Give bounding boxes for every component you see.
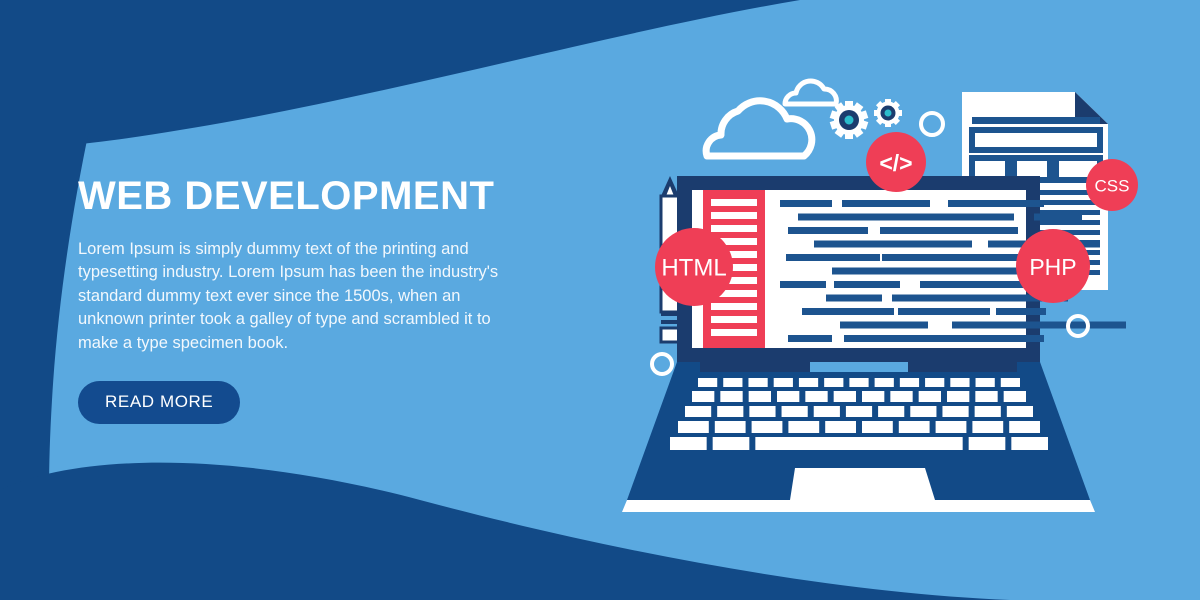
- code-line-segment: [910, 241, 972, 248]
- code-line-segment: [1020, 322, 1126, 329]
- keyboard-key[interactable]: [846, 406, 872, 417]
- keyboard-key[interactable]: [975, 406, 1001, 417]
- keyboard-key[interactable]: [678, 421, 709, 433]
- trackpad[interactable]: [790, 468, 935, 500]
- keyboard-key[interactable]: [899, 421, 930, 433]
- keyboard-key[interactable]: [969, 437, 1006, 450]
- keyboard-key[interactable]: [950, 378, 969, 387]
- badge-html[interactable]: HTML: [655, 228, 733, 306]
- laptop-illustration: CSS </> PHP HTML: [0, 0, 1200, 600]
- circle-top-icon: [921, 113, 943, 135]
- keyboard-key[interactable]: [782, 406, 808, 417]
- code-line-segment: [898, 308, 990, 315]
- keyboard-key[interactable]: [972, 421, 1003, 433]
- badge-code-label: </>: [879, 150, 912, 176]
- code-line-segment: [996, 308, 1046, 315]
- keyboard-key[interactable]: [910, 406, 936, 417]
- keyboard-key[interactable]: [825, 421, 856, 433]
- code-line-segment: [936, 214, 1014, 221]
- keyboard-key[interactable]: [976, 378, 995, 387]
- keyboard-key[interactable]: [1009, 421, 1040, 433]
- keyboard-key[interactable]: [875, 378, 894, 387]
- base-front-edge: [622, 500, 1095, 512]
- code-line-segment: [826, 295, 882, 302]
- keyboard-key[interactable]: [715, 421, 746, 433]
- keyboard-key[interactable]: [947, 391, 969, 402]
- keyboard-key[interactable]: [749, 391, 771, 402]
- keyboard-key[interactable]: [878, 406, 904, 417]
- keyboard-key[interactable]: [975, 391, 997, 402]
- keyboard-key[interactable]: [925, 378, 944, 387]
- badge-code[interactable]: </>: [866, 132, 926, 192]
- code-line-segment: [842, 200, 930, 207]
- keyboard-key[interactable]: [862, 421, 893, 433]
- cloud-small-icon: [785, 81, 836, 104]
- keyboard-key[interactable]: [774, 378, 793, 387]
- gear-large-icon: [830, 101, 869, 139]
- badge-css[interactable]: CSS: [1086, 159, 1138, 211]
- keyboard-key[interactable]: [862, 391, 884, 402]
- code-line-segment: [786, 254, 880, 261]
- keyboard-key[interactable]: [788, 421, 819, 433]
- badge-php[interactable]: PHP: [1016, 229, 1090, 303]
- keyboard-key[interactable]: [1001, 378, 1020, 387]
- keyboard-key[interactable]: [942, 406, 968, 417]
- keyboard-key[interactable]: [685, 406, 711, 417]
- code-line-segment: [952, 322, 1024, 329]
- code-line-segment: [780, 200, 832, 207]
- code-line-segment: [834, 281, 900, 288]
- keyboard-key[interactable]: [692, 391, 714, 402]
- keyboard-key[interactable]: [805, 391, 827, 402]
- keyboard-key[interactable]: [834, 391, 856, 402]
- hinge-notch: [810, 362, 908, 372]
- keyboard-key[interactable]: [698, 378, 717, 387]
- keyboard-key[interactable]: [723, 378, 742, 387]
- keyboard-key[interactable]: [824, 378, 843, 387]
- cloud-large-icon: [706, 101, 812, 156]
- keyboard-key[interactable]: [814, 406, 840, 417]
- keyboard-key[interactable]: [749, 406, 775, 417]
- code-line-segment: [950, 335, 1044, 342]
- keyboard-key[interactable]: [890, 391, 912, 402]
- code-line-segment: [892, 295, 986, 302]
- code-line-segment: [802, 308, 894, 315]
- code-line-segment: [844, 335, 956, 342]
- keyboard-key[interactable]: [799, 378, 818, 387]
- code-line-segment: [780, 281, 826, 288]
- code-line-segment: [788, 335, 832, 342]
- keyboard-key[interactable]: [720, 391, 742, 402]
- code-line-segment: [1034, 214, 1082, 221]
- badge-php-label: PHP: [1029, 254, 1076, 280]
- keyboard-key[interactable]: [777, 391, 799, 402]
- code-line-segment: [948, 200, 1044, 207]
- keyboard-key[interactable]: [900, 378, 919, 387]
- keyboard-key[interactable]: [849, 378, 868, 387]
- circle-left-icon: [652, 354, 672, 374]
- laptop-base: [622, 362, 1095, 512]
- keyboard-key[interactable]: [713, 437, 750, 450]
- keyboard-key[interactable]: [755, 437, 792, 450]
- keyboard-key[interactable]: [1004, 391, 1026, 402]
- keyboard-key[interactable]: [936, 421, 967, 433]
- code-line-segment: [944, 227, 1018, 234]
- badge-css-label: CSS: [1095, 177, 1130, 196]
- keyboard-key[interactable]: [1011, 437, 1048, 450]
- keyboard-key[interactable]: [752, 421, 783, 433]
- gear-small-icon: [874, 99, 902, 127]
- web-development-banner: WEB DEVELOPMENT Lorem Ipsum is simply du…: [0, 0, 1200, 600]
- keyboard-spacebar[interactable]: [790, 437, 940, 450]
- keyboard-key[interactable]: [748, 378, 767, 387]
- keyboard-key[interactable]: [717, 406, 743, 417]
- code-line-segment: [788, 227, 868, 234]
- keyboard-key[interactable]: [1007, 406, 1033, 417]
- keyboard-key[interactable]: [670, 437, 707, 450]
- badge-html-label: HTML: [661, 255, 726, 282]
- code-line-segment: [840, 322, 928, 329]
- keyboard-key[interactable]: [919, 391, 941, 402]
